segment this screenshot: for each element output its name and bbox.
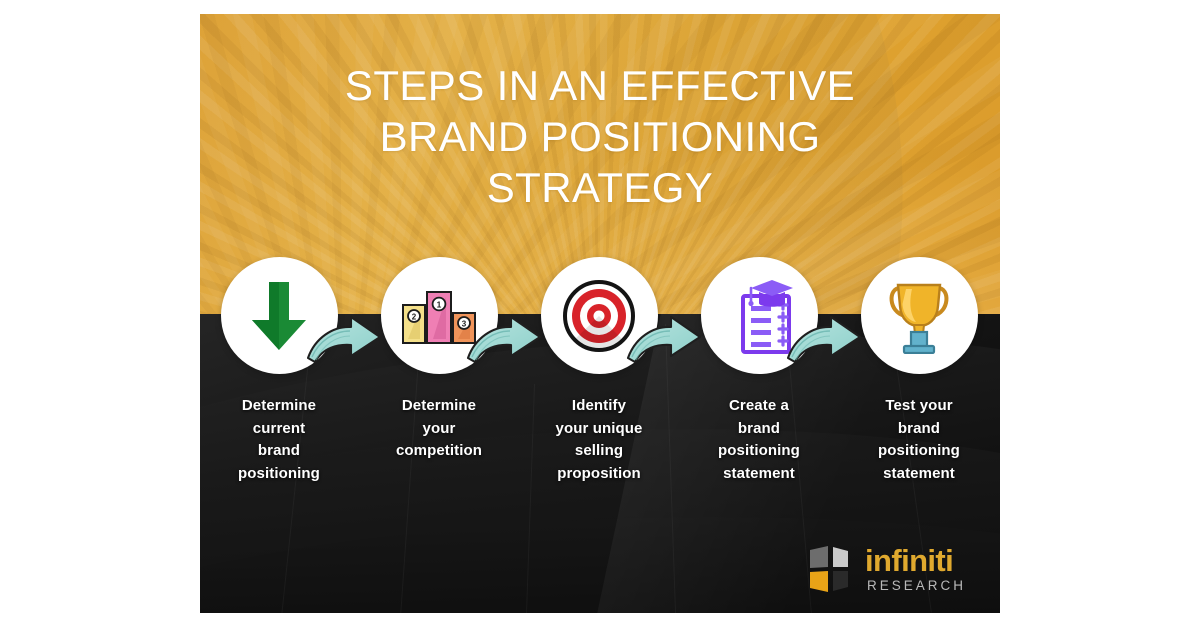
step-4-label-line: brand xyxy=(738,420,780,437)
logo-text: infiniti RESEARCH xyxy=(865,545,966,593)
curved-arrow-right-icon xyxy=(785,314,863,370)
step-1-label-line: current xyxy=(253,420,305,437)
step-2-label-line: Determine xyxy=(402,397,476,414)
step-1-label: Determine current brand positioning xyxy=(214,395,344,485)
step-2-label: Determine your competition xyxy=(374,395,504,463)
down-arrow-icon xyxy=(248,280,310,352)
step-2-label-line: your xyxy=(423,420,456,437)
step-3: Identify your unique selling proposition xyxy=(534,257,664,485)
step-5-label-line: statement xyxy=(883,465,955,482)
step-5-label: Test your brand positioning statement xyxy=(854,395,984,485)
step-3-label: Identify your unique selling proposition xyxy=(534,395,664,485)
step-3-label-line: your unique xyxy=(556,420,643,437)
step-5: Test your brand positioning statement xyxy=(854,257,984,485)
step-4: Create a brand positioning statement xyxy=(694,257,824,485)
infiniti-window-mark-icon xyxy=(808,544,854,594)
trophy-icon xyxy=(886,278,952,354)
arrow-1-to-2 xyxy=(305,314,383,370)
step-5-bubble xyxy=(861,257,978,374)
arrow-2-to-3 xyxy=(465,314,543,370)
step-1-label-line: brand xyxy=(258,442,300,459)
logo-subtitle: RESEARCH xyxy=(867,579,966,593)
step-4-label-line: statement xyxy=(723,465,795,482)
step-1-label-line: positioning xyxy=(238,465,320,482)
infographic-canvas: STEPS IN AN EFFECTIVE BRAND POSITIONING … xyxy=(0,0,1200,627)
step-5-label-line: Test your xyxy=(885,397,952,414)
step-4-label-line: Create a xyxy=(729,397,789,414)
curved-arrow-right-icon xyxy=(465,314,543,370)
arrow-4-to-5 xyxy=(785,314,863,370)
step-4-label-line: positioning xyxy=(718,442,800,459)
logo-wordmark: infiniti xyxy=(865,545,966,576)
step-1: Determine current brand positioning xyxy=(214,257,344,485)
step-3-label-line: Identify xyxy=(572,397,626,414)
step-1-label-line: Determine xyxy=(242,397,316,414)
infiniti-research-logo: infiniti RESEARCH xyxy=(808,544,966,594)
step-5-label-line: positioning xyxy=(878,442,960,459)
step-5-label-line: brand xyxy=(898,420,940,437)
step-3-label-line: proposition xyxy=(557,465,641,482)
curved-arrow-right-icon xyxy=(625,314,703,370)
svg-text:2: 2 xyxy=(412,312,417,321)
infographic-panel: STEPS IN AN EFFECTIVE BRAND POSITIONING … xyxy=(200,14,1000,613)
step-3-label-line: selling xyxy=(575,442,623,459)
steps-row: Determine current brand positioning 2 xyxy=(200,14,1000,613)
arrow-3-to-4 xyxy=(625,314,703,370)
step-4-label: Create a brand positioning statement xyxy=(694,395,824,485)
step-2-label-line: competition xyxy=(396,442,482,459)
svg-text:1: 1 xyxy=(437,299,442,309)
curved-arrow-right-icon xyxy=(305,314,383,370)
